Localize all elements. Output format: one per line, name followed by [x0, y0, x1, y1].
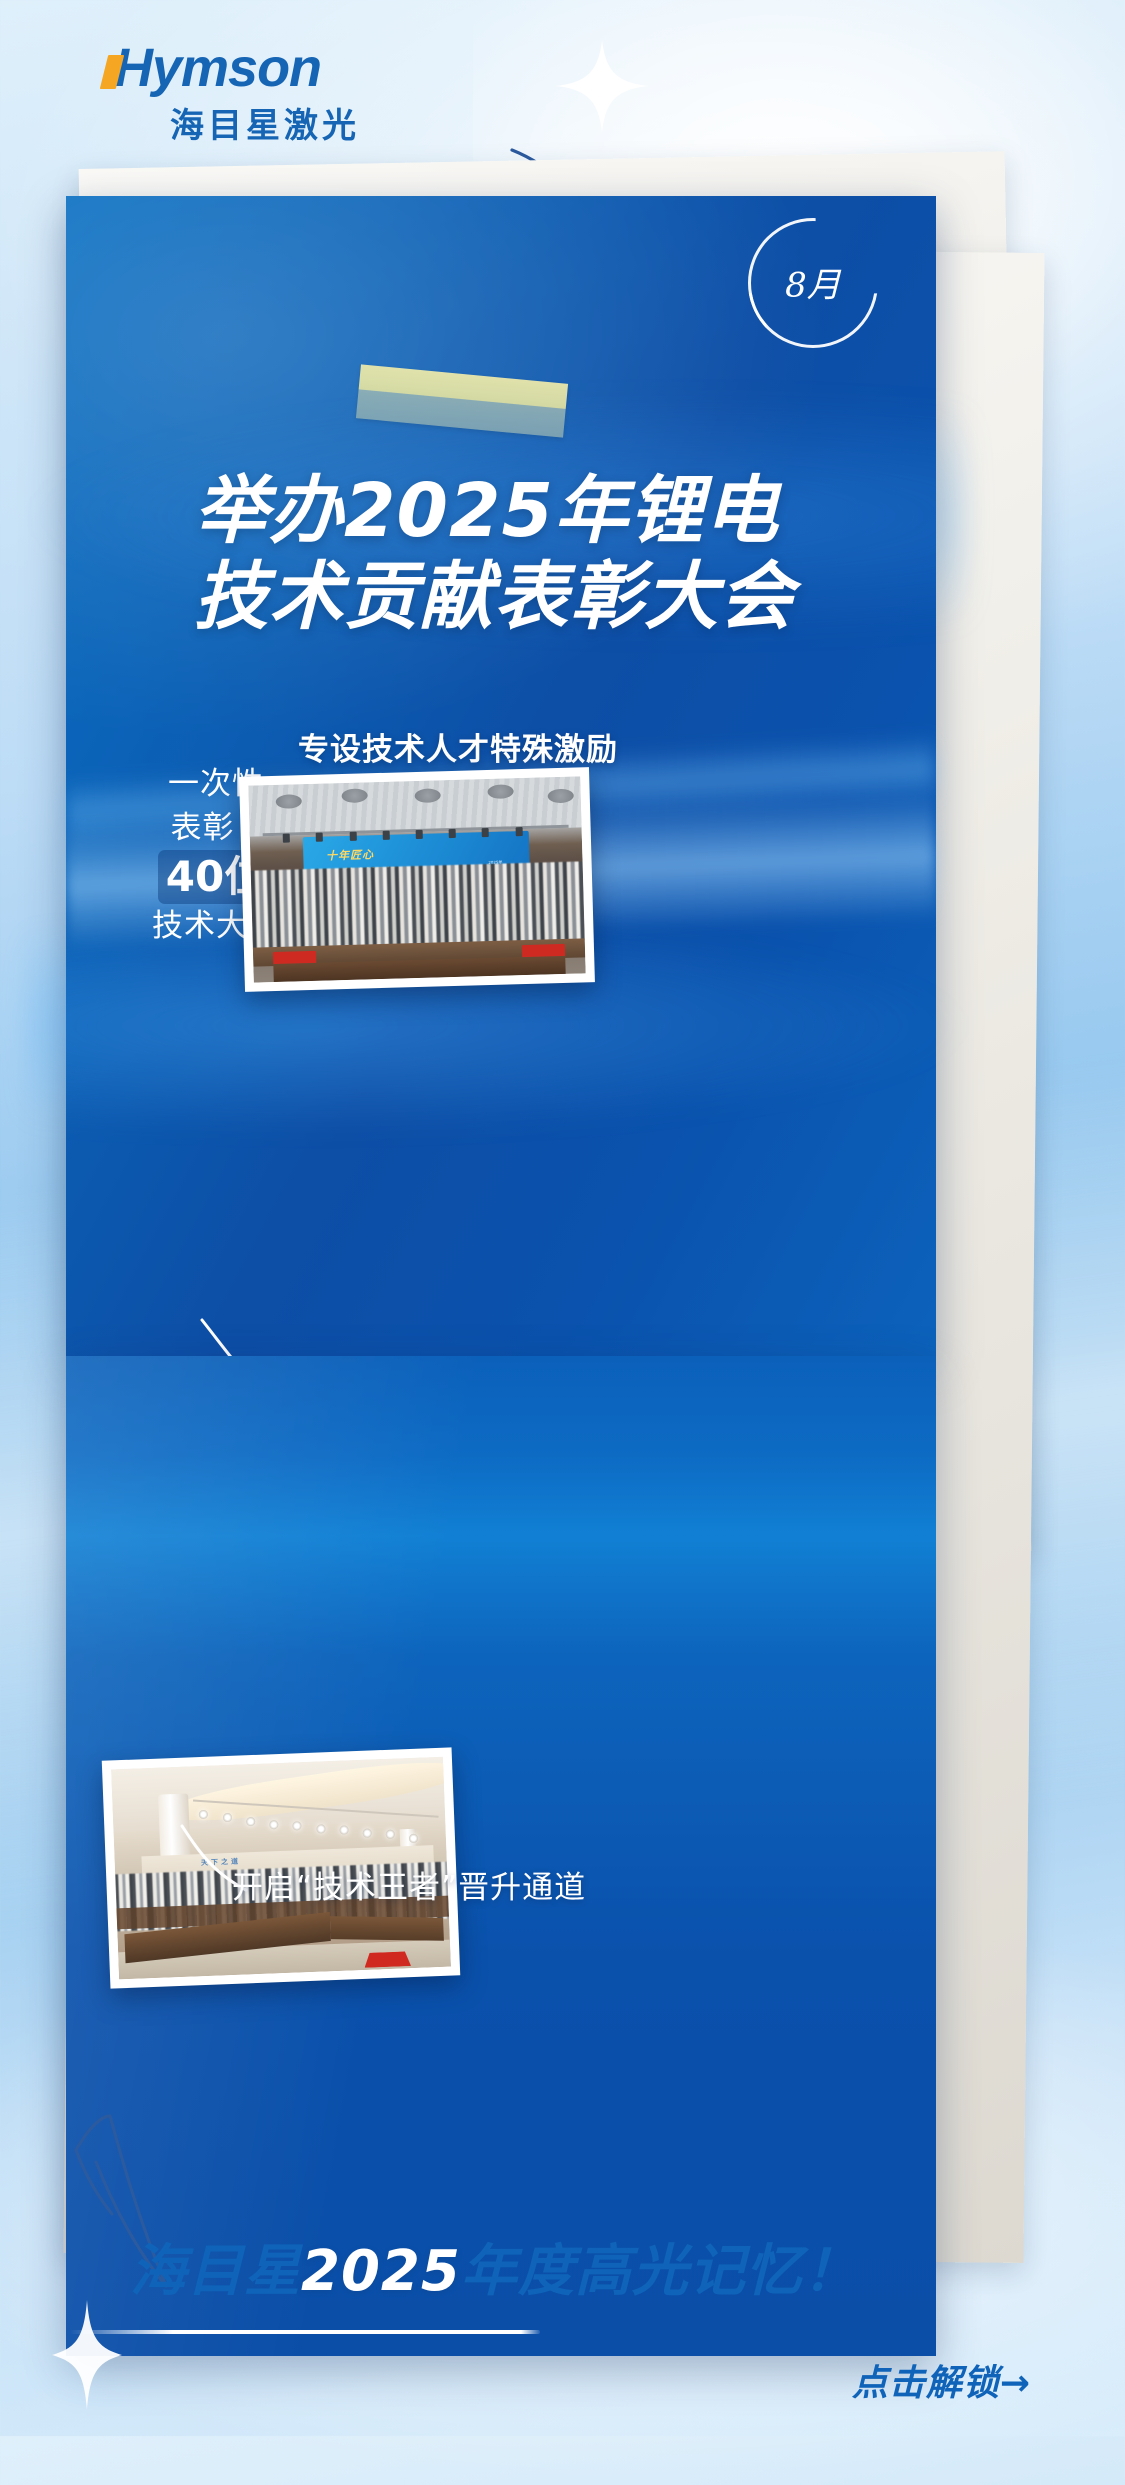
title-line-2: 技术贡献表彰大会: [194, 554, 894, 640]
footer-title-post: 年度高光记忆！: [461, 2239, 860, 2304]
photo2-red-cloth: [364, 1951, 411, 1967]
footer-unlock-link[interactable]: 点击解锁→: [852, 2354, 1031, 2406]
logo-chinese-name: 海目星激光: [170, 98, 404, 147]
photo1-crowd-front: [251, 861, 585, 949]
logo-wordmark: Hymson: [104, 40, 404, 96]
section-heading: 专设技术人才特殊激励: [298, 724, 618, 769]
month-badge: 8月: [748, 218, 878, 348]
photo-award-ceremony[interactable]: 十年匠心 共创锂想 2025年技术贡献表彰大会: [239, 767, 595, 992]
highlight-card[interactable]: 8月 举办2025年锂电 技术贡献表彰大会 专设技术人才特殊激励 一次性 表彰↓…: [66, 196, 936, 1356]
page-title: 举办2025年锂电 技术贡献表彰大会: [194, 468, 894, 640]
photo1-screen-text-1: 十年匠心: [326, 846, 374, 863]
photo2-rail-right: [329, 1916, 443, 1941]
photo1-scene: 十年匠心 共创锂想 2025年技术贡献表彰大会: [248, 776, 585, 982]
logo-text-hym: Hymson: [114, 38, 321, 98]
footer: 海目星2025年度高光记忆！ 点击解锁→: [0, 2230, 1125, 2436]
photo-award-ceremony-inner: 十年匠心 共创锂想 2025年技术贡献表彰大会: [248, 776, 585, 982]
title-line-1: 举办2025年锂电: [194, 468, 894, 554]
footer-title: 海目星2025年度高光记忆！: [130, 2236, 860, 2308]
caption-bottom: 开启“技术王者”晋升通道: [232, 1862, 586, 1907]
brand-logo: Hymson 海目星激光: [104, 40, 404, 136]
footer-title-year: 2025: [301, 2239, 461, 2304]
footer-title-pre: 海目星: [130, 2239, 301, 2304]
footer-divider: [70, 2330, 540, 2334]
month-badge-label: 8月: [785, 258, 841, 307]
